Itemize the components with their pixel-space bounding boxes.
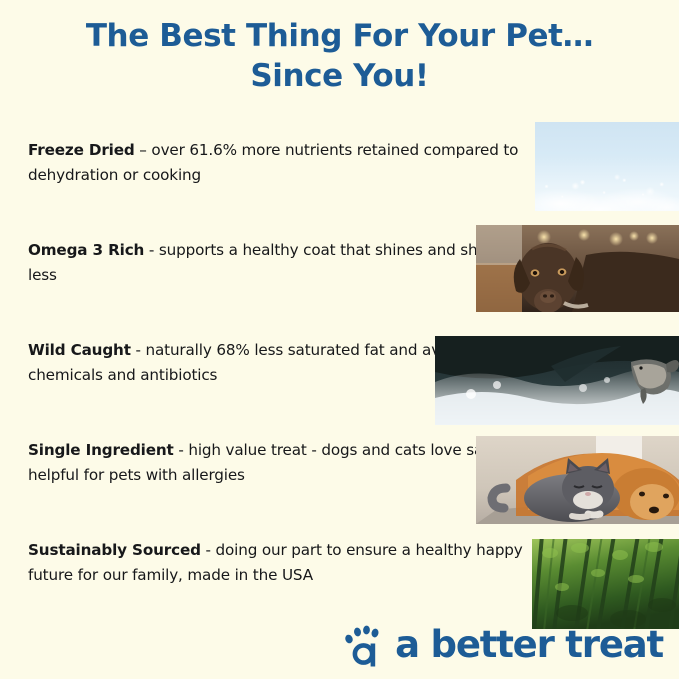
feature-heading: Omega 3 Rich: [28, 241, 144, 259]
feature-row-sustainably-sourced: Sustainably Sourced - doing our part to …: [0, 518, 679, 618]
feature-image-forest: [532, 539, 679, 629]
feature-text: Single Ingredient - high value treat - d…: [28, 438, 528, 488]
feature-row-omega-3: Omega 3 Rich - supports a healthy coat t…: [0, 218, 679, 318]
feature-dash: -: [144, 241, 159, 259]
feature-heading: Single Ingredient: [28, 441, 174, 459]
feature-heading: Sustainably Sourced: [28, 541, 201, 559]
feature-image-salmon: [435, 336, 679, 425]
feature-row-freeze-dried: Freeze Dried – over 61.6% more nutrients…: [0, 118, 679, 218]
feature-row-wild-caught: Wild Caught - naturally 68% less saturat…: [0, 318, 679, 418]
feature-text: Freeze Dried – over 61.6% more nutrients…: [28, 138, 528, 188]
feature-heading: Freeze Dried: [28, 141, 135, 159]
feature-text: Omega 3 Rich - supports a healthy coat t…: [28, 238, 528, 288]
logo-wordmark: a better treat: [395, 624, 663, 666]
feature-text: Sustainably Sourced - doing our part to …: [28, 538, 528, 588]
feature-dash: –: [135, 141, 152, 159]
feature-row-single-ingredient: Single Ingredient - high value treat - d…: [0, 418, 679, 518]
feature-image-ice: [535, 122, 679, 211]
feature-dash: -: [174, 441, 189, 459]
feature-list: Freeze Dried – over 61.6% more nutrients…: [0, 118, 679, 623]
paw-print-icon: [343, 623, 391, 667]
feature-heading: Wild Caught: [28, 341, 131, 359]
feature-dash: -: [201, 541, 216, 559]
page-title: The Best Thing For Your Pet… Since You!: [0, 16, 679, 96]
title-line-1: The Best Thing For Your Pet…: [0, 16, 679, 56]
feature-image-cat-dog: [476, 436, 679, 524]
feature-image-dog: [476, 225, 679, 312]
title-line-2: Since You!: [0, 56, 679, 96]
feature-dash: -: [131, 341, 146, 359]
brand-logo[interactable]: a better treat: [343, 620, 663, 670]
